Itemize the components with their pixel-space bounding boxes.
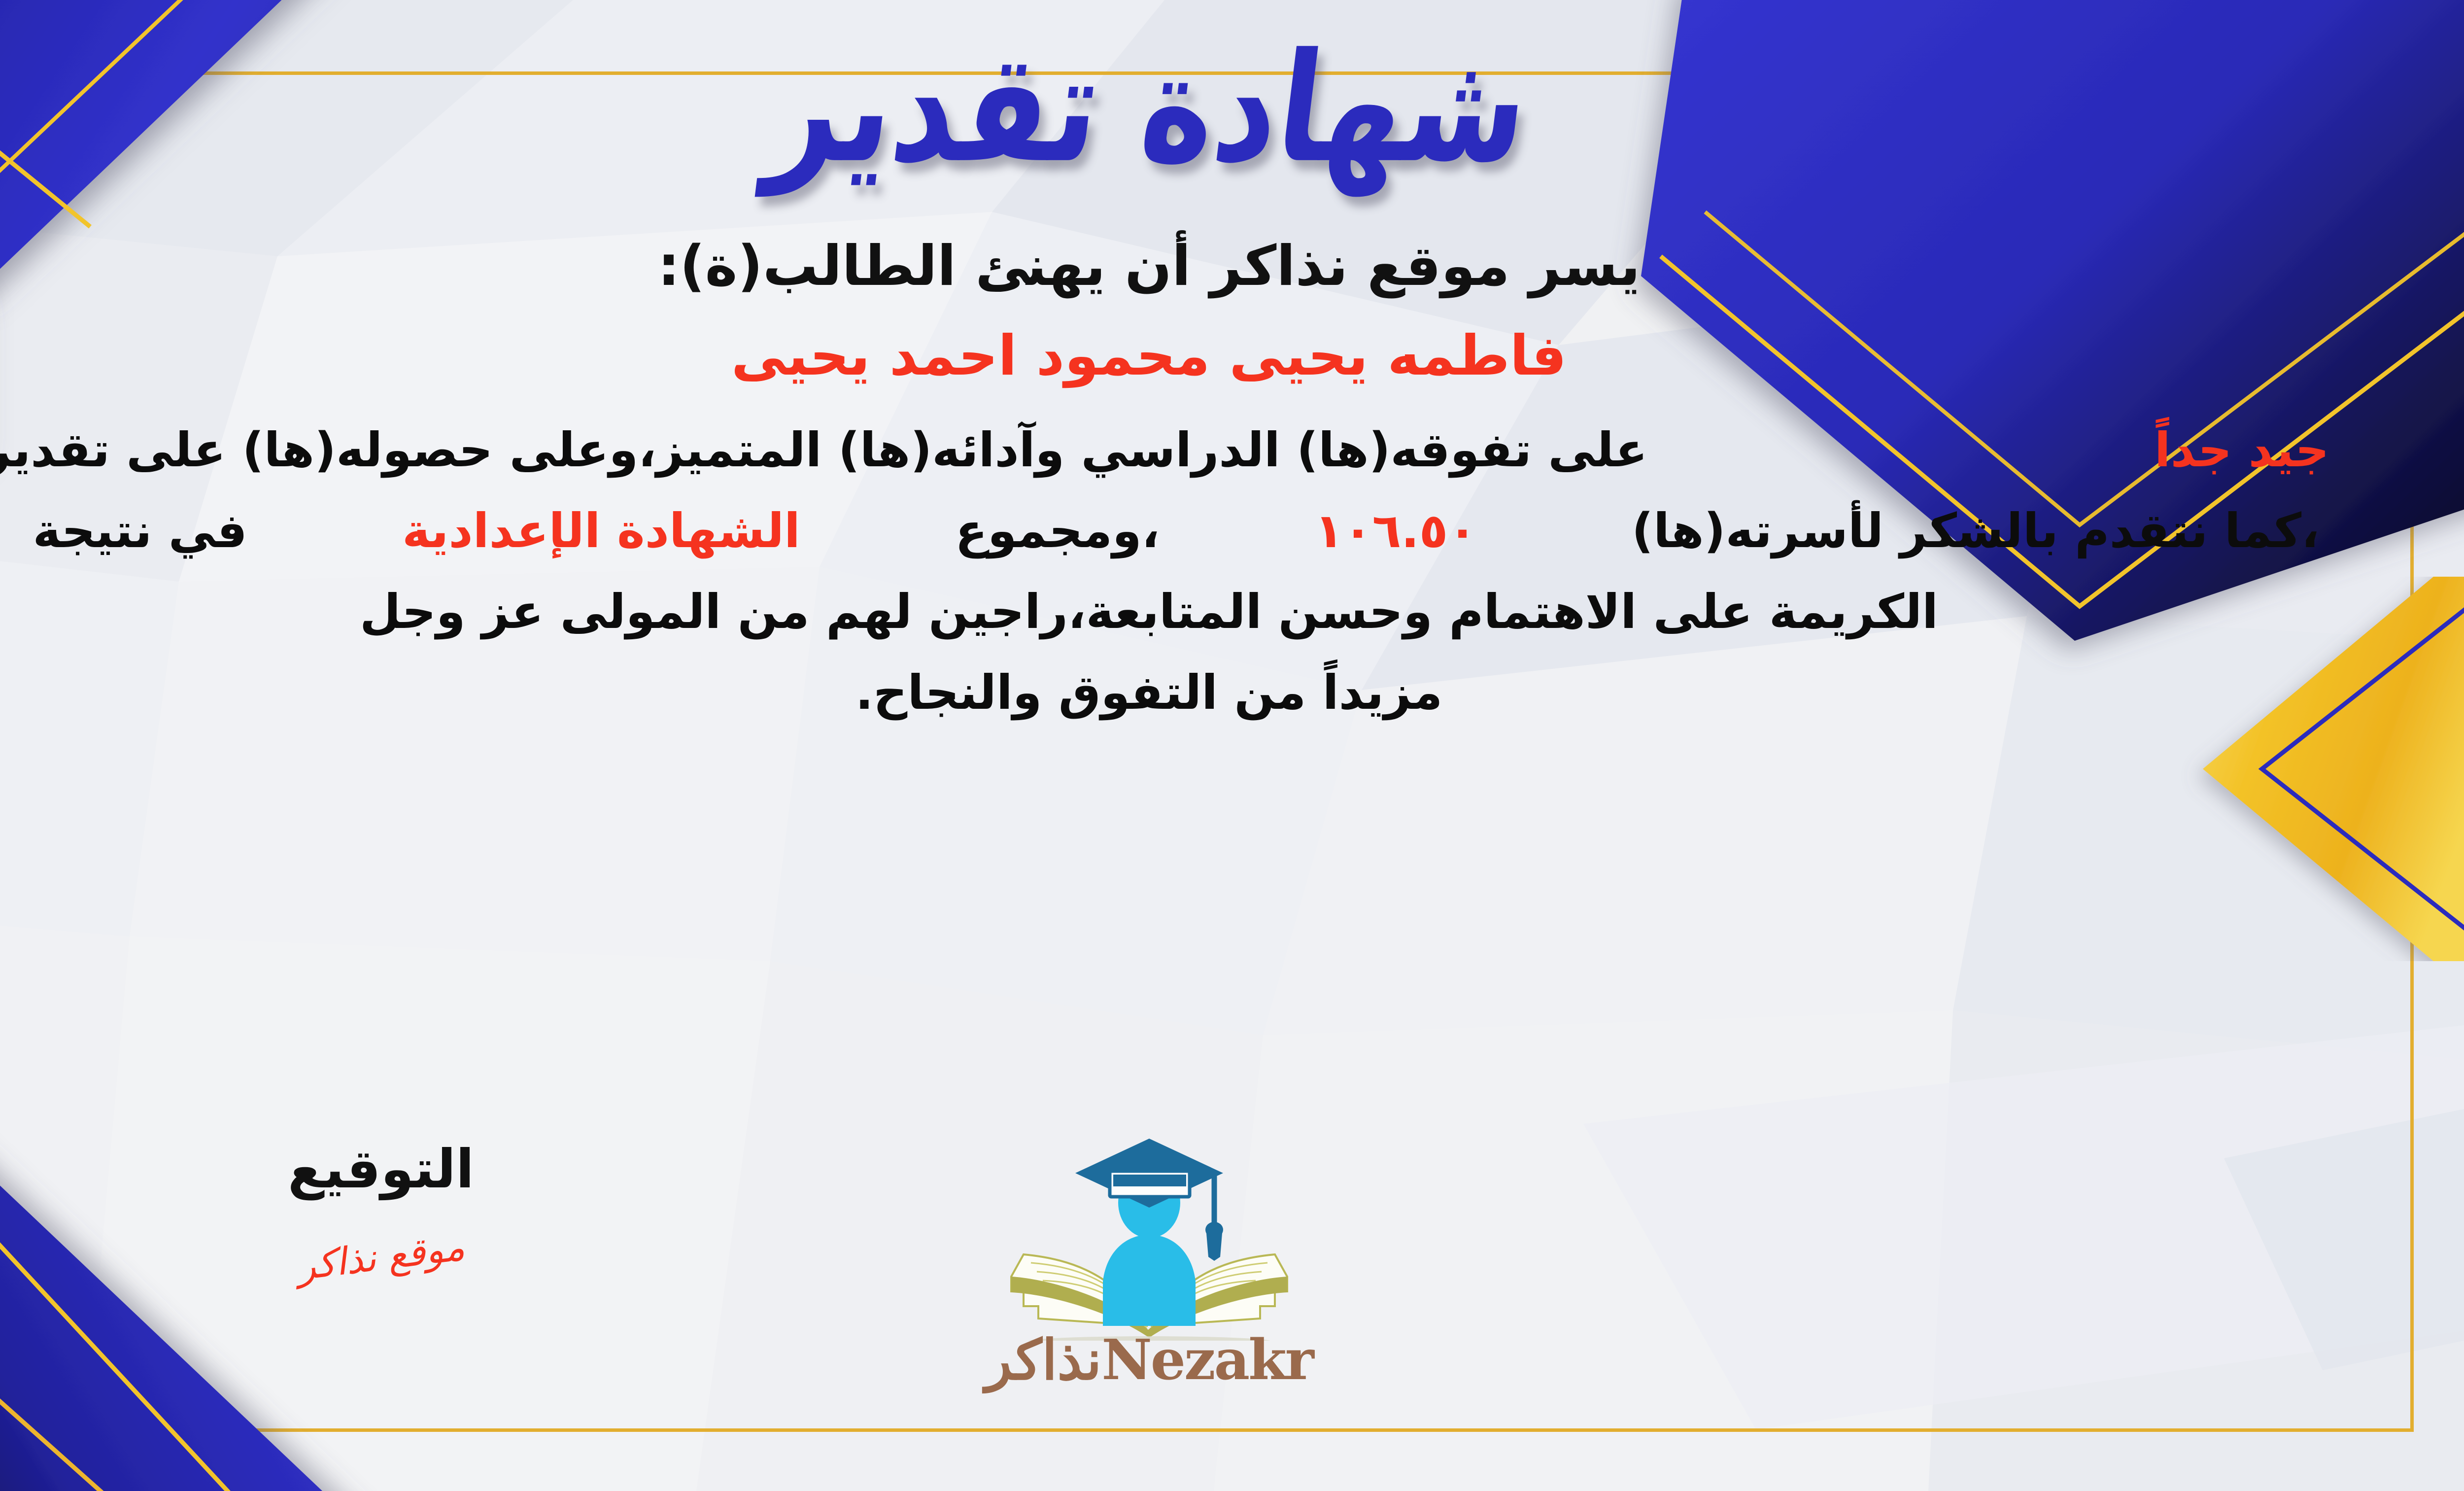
- signature-label: التوقيع: [208, 1139, 553, 1200]
- total-score-value: ١٠٦.٥٠: [1314, 495, 1476, 567]
- site-logo: Nezakrنذاكر: [903, 1129, 1396, 1392]
- grade-value: جيد جداً: [2155, 415, 2329, 486]
- certificate-content: شهادة تقدير يسر موقع نذاكر أن يهنئ الطال…: [0, 0, 2464, 1491]
- certificate-page: شهادة تقدير يسر موقع نذاكر أن يهنئ الطال…: [0, 0, 2464, 1491]
- student-name: فاطمه يحيى محمود احمد يحيى: [731, 324, 1567, 388]
- body-line-2-mid: ،ومجموع: [955, 495, 1160, 567]
- signature-mark: موقع نذاكر: [295, 1225, 467, 1289]
- logo-text: Nezakrنذاكر: [985, 1328, 1313, 1392]
- intro-line: يسر موقع نذاكر أن يهنئ الطالب(ة):: [658, 234, 1641, 298]
- exam-name-value: الشهادة الإعدادية: [402, 495, 800, 567]
- certificate-footer: التوقيع موقع نذاكر: [0, 1139, 2464, 1415]
- body-line-2: ،كما نتقدم بالشكر لأسرته(ها) ١٠٦.٥٠ ،ومج…: [33, 495, 2320, 567]
- graduate-book-logo-icon: [992, 1129, 1307, 1341]
- body-line-2-tail: ،كما نتقدم بالشكر لأسرته(ها): [1632, 495, 2319, 567]
- body-text-block: جيد جداً على تفوقه(ها) الدراسي وآدائه(ها…: [0, 415, 2320, 729]
- signature-area: التوقيع موقع نذاكر: [208, 1139, 553, 1279]
- body-line-3: الكريمة على الاهتمام وحسن المتابعة،راجين…: [0, 576, 2320, 648]
- body-line-2-head: في نتيجة: [33, 495, 247, 567]
- body-line-4: مزيداً من التفوق والنجاح.: [0, 657, 2320, 729]
- page-title: شهادة تقدير: [761, 34, 1537, 184]
- certificate-title-wrap: شهادة تقدير: [0, 42, 2464, 175]
- body-line-1: جيد جداً على تفوقه(ها) الدراسي وآدائه(ها…: [0, 415, 2329, 486]
- body-line-1-text: على تفوقه(ها) الدراسي وآدائه(ها) المتميز…: [0, 415, 1647, 486]
